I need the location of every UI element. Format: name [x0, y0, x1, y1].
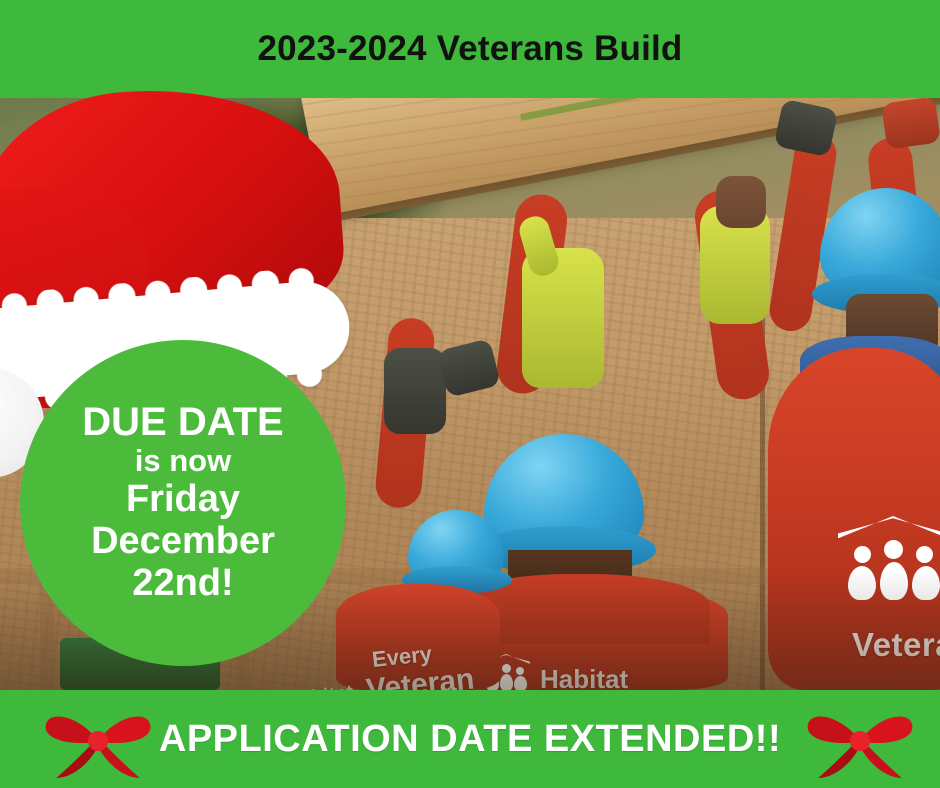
badge-line-2: is now [135, 443, 231, 479]
logo-roof-shape [838, 516, 940, 538]
badge-line-4: December [91, 521, 275, 563]
left-person-glove [384, 348, 446, 434]
due-date-badge: DUE DATE is now Friday December 22nd! [20, 340, 346, 666]
bottom-banner-title: APPLICATION DATE EXTENDED!! [159, 718, 781, 761]
badge-line-3: Friday [126, 479, 240, 521]
logo-head-right [916, 546, 933, 563]
badge-line-1: DUE DATE [82, 401, 283, 443]
top-banner-title: 2023-2024 Veterans Build [257, 29, 682, 69]
badge-line-5: 22nd! [132, 563, 233, 605]
poster-image: 2023-2024 Veterans Build [0, 0, 940, 788]
right-person-glove-right [881, 98, 940, 150]
logo-head-left [854, 546, 871, 563]
red-ribbon-bow-icon [38, 698, 158, 784]
logo-head-center [884, 540, 903, 559]
red-ribbon-bow-icon [800, 698, 920, 784]
center-person-wrist-right [716, 176, 766, 228]
